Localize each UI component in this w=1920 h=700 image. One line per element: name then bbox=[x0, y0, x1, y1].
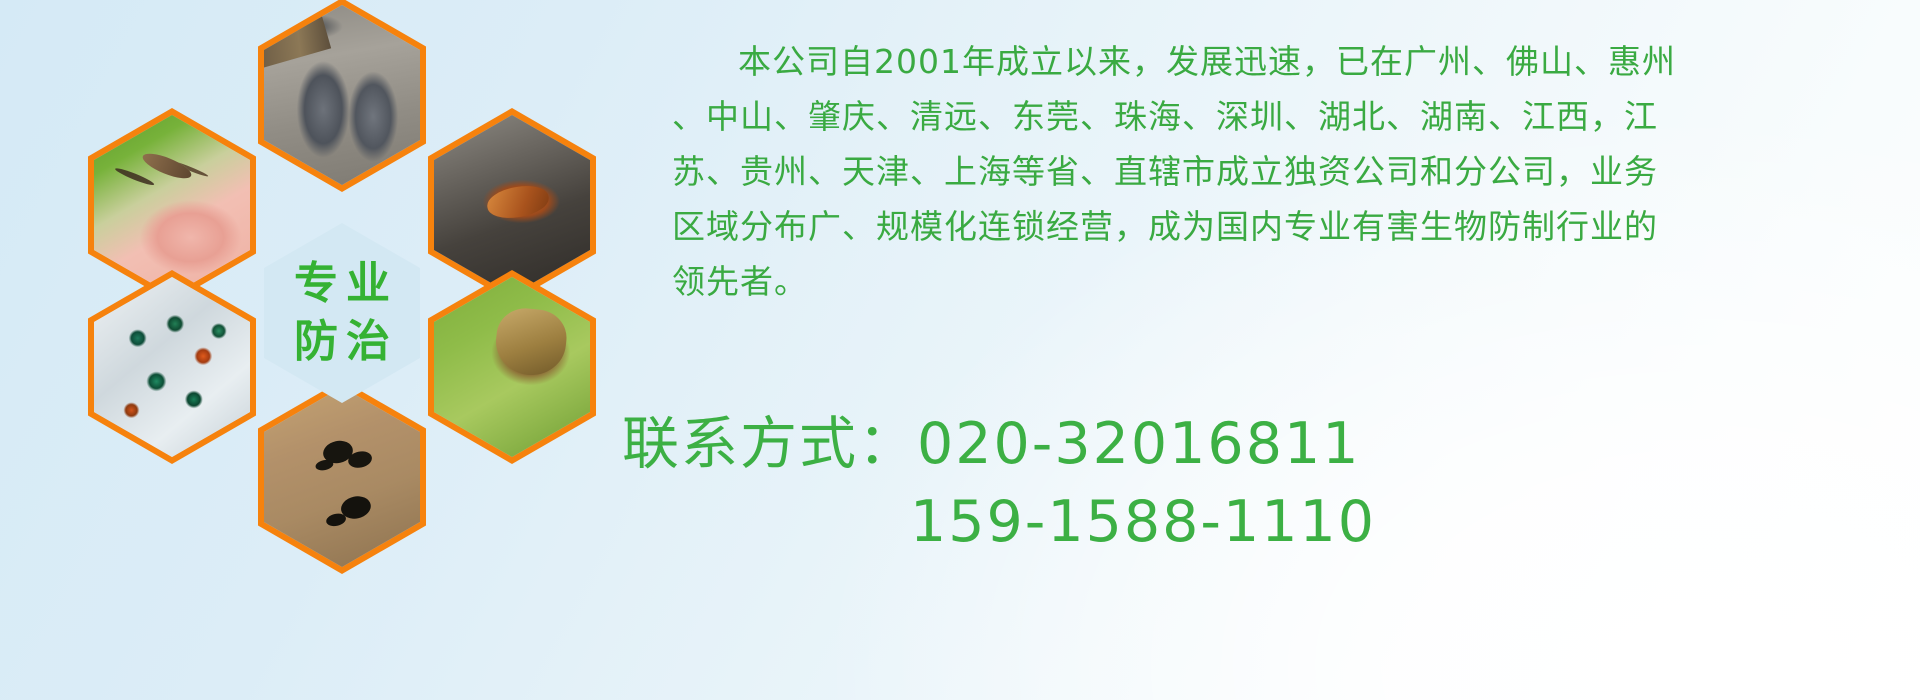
hex-cell-slogan: 专业 防治 bbox=[258, 216, 426, 410]
fly-photo-icon bbox=[94, 277, 250, 457]
hex-image-stinkbug bbox=[434, 277, 590, 457]
description-line-5: 领先者。 bbox=[672, 254, 1912, 309]
contact-block: 联系方式：020-32016811 159-1588-1110 bbox=[622, 405, 1912, 561]
contact-phone-secondary[interactable]: 159-1588-1110 bbox=[622, 483, 1912, 561]
slogan-panel: 专业 防治 bbox=[264, 223, 420, 403]
description-line-3: 苏、贵州、天津、上海等省、直辖市成立独资公司和分公司，业务 bbox=[672, 144, 1912, 199]
slogan-line-2: 防治 bbox=[286, 320, 398, 364]
hex-image-ant bbox=[264, 387, 420, 567]
hex-image-rat bbox=[264, 5, 420, 185]
contact-phone-primary[interactable]: 联系方式：020-32016811 bbox=[622, 405, 1912, 483]
description-line-2: 、中山、肇庆、清远、东莞、珠海、深圳、湖北、湖南、江西，江 bbox=[672, 89, 1912, 144]
slogan-line-1: 专业 bbox=[286, 262, 398, 306]
ant-photo-icon bbox=[264, 387, 420, 567]
honeycomb-collage: 专业 防治 bbox=[88, 0, 598, 574]
rat-photo-icon bbox=[264, 5, 420, 185]
pest-control-banner: 专业 防治 本公司自2001年成立以来，发展迅速，已在广州、佛山、惠州 、中山、… bbox=[0, 0, 1920, 700]
description-line-4: 区域分布广、规模化连锁经营，成为国内专业有害生物防制行业的 bbox=[672, 199, 1912, 254]
hex-cell-rat[interactable] bbox=[258, 0, 426, 192]
cockroach-photo-icon bbox=[434, 115, 590, 295]
hex-cell-fly[interactable] bbox=[88, 270, 256, 464]
hex-image-fly bbox=[94, 277, 250, 457]
mosquito-photo-icon bbox=[94, 115, 250, 295]
description-line-1: 本公司自2001年成立以来，发展迅速，已在广州、佛山、惠州 bbox=[672, 34, 1912, 89]
hex-cell-stinkbug[interactable] bbox=[428, 270, 596, 464]
hex-image-mosquito bbox=[94, 115, 250, 295]
stinkbug-photo-icon bbox=[434, 277, 590, 457]
company-description: 本公司自2001年成立以来，发展迅速，已在广州、佛山、惠州 、中山、肇庆、清远、… bbox=[672, 34, 1912, 309]
hex-image-cockroach bbox=[434, 115, 590, 295]
